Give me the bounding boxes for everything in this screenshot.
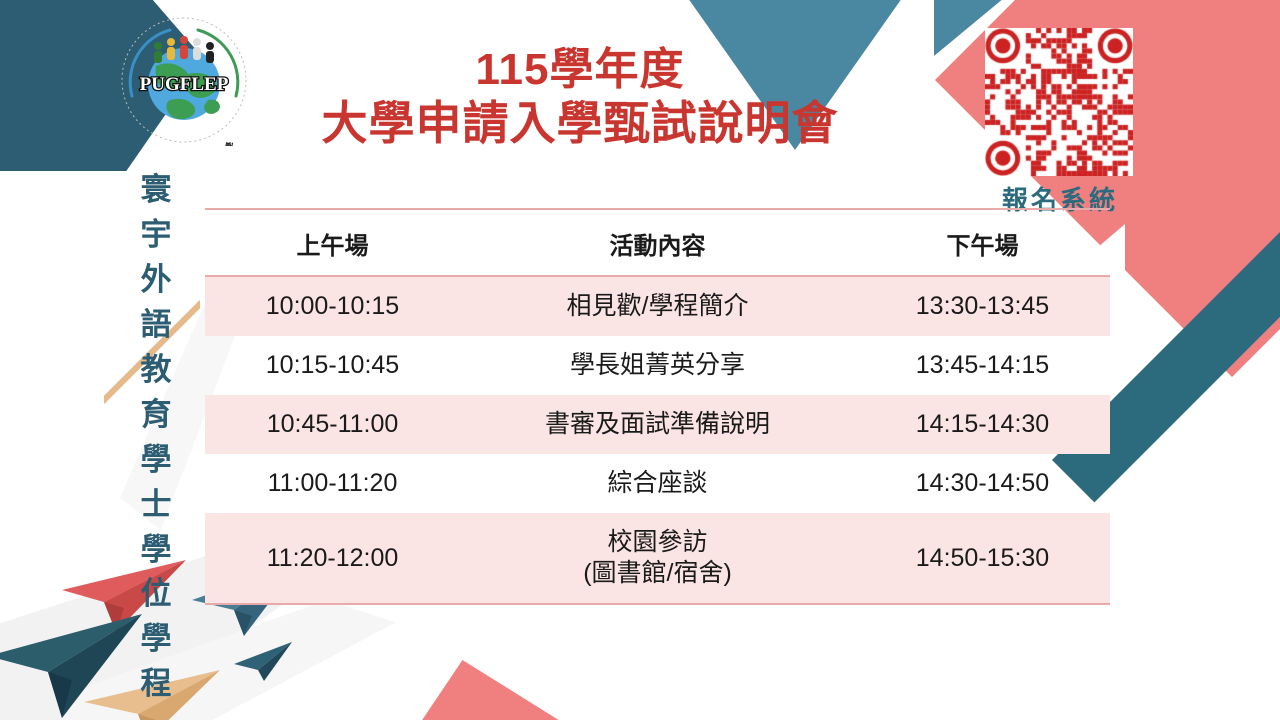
activity-line-1: 綜合座談: [460, 468, 855, 499]
paper-plane-darkteal-icon: [0, 612, 146, 720]
vertical-name-char-9: 位: [133, 572, 179, 617]
registration-qr-block[interactable]: 報名系統: [985, 28, 1135, 217]
cell-afternoon-time: 14:15-14:30: [855, 395, 1110, 454]
vertical-name-char-0: 寰: [133, 168, 179, 213]
vertical-name-char-3: 語: [133, 303, 179, 348]
decor-coral-triangle-bottom: [375, 660, 625, 720]
schedule-table: 上午場 活動內容 下午場 10:00-10:15相見歡/學程簡介13:30-13…: [205, 208, 1110, 605]
column-header-activity: 活動內容: [460, 209, 855, 276]
cell-morning-time: 10:45-11:00: [205, 395, 460, 454]
vertical-name-char-6: 學: [133, 438, 179, 483]
vertical-name-char-2: 外: [133, 258, 179, 303]
cell-activity: 綜合座談: [460, 454, 855, 513]
cell-afternoon-time: 14:30-14:50: [855, 454, 1110, 513]
cell-morning-time: 11:20-12:00: [205, 513, 460, 604]
vertical-program-name: 寰宇外語教育學士學位學程: [133, 168, 179, 707]
table-row: 11:00-11:20綜合座談14:30-14:50: [205, 454, 1110, 513]
paper-plane-small-teal-icon: [232, 640, 294, 682]
vertical-name-char-1: 宇: [133, 213, 179, 258]
cell-afternoon-time: 14:50-15:30: [855, 513, 1110, 604]
decor-grey-swoosh-b: [60, 600, 490, 720]
table-row: 10:00-10:15相見歡/學程簡介13:30-13:45: [205, 276, 1110, 336]
cell-morning-time: 10:00-10:15: [205, 276, 460, 336]
cell-activity: 書審及面試準備說明: [460, 395, 855, 454]
schedule-body: 10:00-10:15相見歡/學程簡介13:30-13:4510:15-10:4…: [205, 276, 1110, 604]
cell-activity: 學長姐菁英分享: [460, 336, 855, 395]
table-row: 10:45-11:00書審及面試準備說明14:15-14:30: [205, 395, 1110, 454]
column-header-afternoon: 下午場: [855, 209, 1110, 276]
cell-afternoon-time: 13:45-14:15: [855, 336, 1110, 395]
table-row: 10:15-10:45學長姐菁英分享13:45-14:15: [205, 336, 1110, 395]
cell-activity: 校園參訪(圖書館/宿舍): [460, 513, 855, 604]
vertical-name-char-11: 程: [133, 662, 179, 707]
page-title: 115學年度 大學申請入學甄試說明會: [190, 44, 970, 150]
column-header-morning: 上午場: [205, 209, 460, 276]
activity-line-1: 相見歡/學程簡介: [460, 291, 855, 322]
qr-code-image[interactable]: [985, 28, 1133, 176]
cell-morning-time: 11:00-11:20: [205, 454, 460, 513]
poster-canvas: PUGFLEP 屏東大學寰宇外語教育學士學位學程 115學年度 大學申請入學甄試…: [0, 0, 1280, 720]
cell-activity: 相見歡/學程簡介: [460, 276, 855, 336]
cell-morning-time: 10:15-10:45: [205, 336, 460, 395]
activity-line-1: 校園參訪: [460, 527, 855, 558]
vertical-name-char-7: 士: [133, 483, 179, 528]
title-line-2: 大學申請入學甄試說明會: [190, 96, 970, 150]
activity-line-1: 書審及面試準備說明: [460, 409, 855, 440]
vertical-name-char-4: 教: [133, 348, 179, 393]
title-line-1: 115學年度: [190, 44, 970, 96]
table-row: 11:20-12:00校園參訪(圖書館/宿舍)14:50-15:30: [205, 513, 1110, 604]
cell-afternoon-time: 13:30-13:45: [855, 276, 1110, 336]
vertical-name-char-10: 學: [133, 617, 179, 662]
vertical-name-char-5: 育: [133, 393, 179, 438]
vertical-name-char-8: 學: [133, 528, 179, 573]
table-header-row: 上午場 活動內容 下午場: [205, 209, 1110, 276]
activity-line-2: (圖書館/宿舍): [460, 558, 855, 589]
activity-line-1: 學長姐菁英分享: [460, 350, 855, 381]
